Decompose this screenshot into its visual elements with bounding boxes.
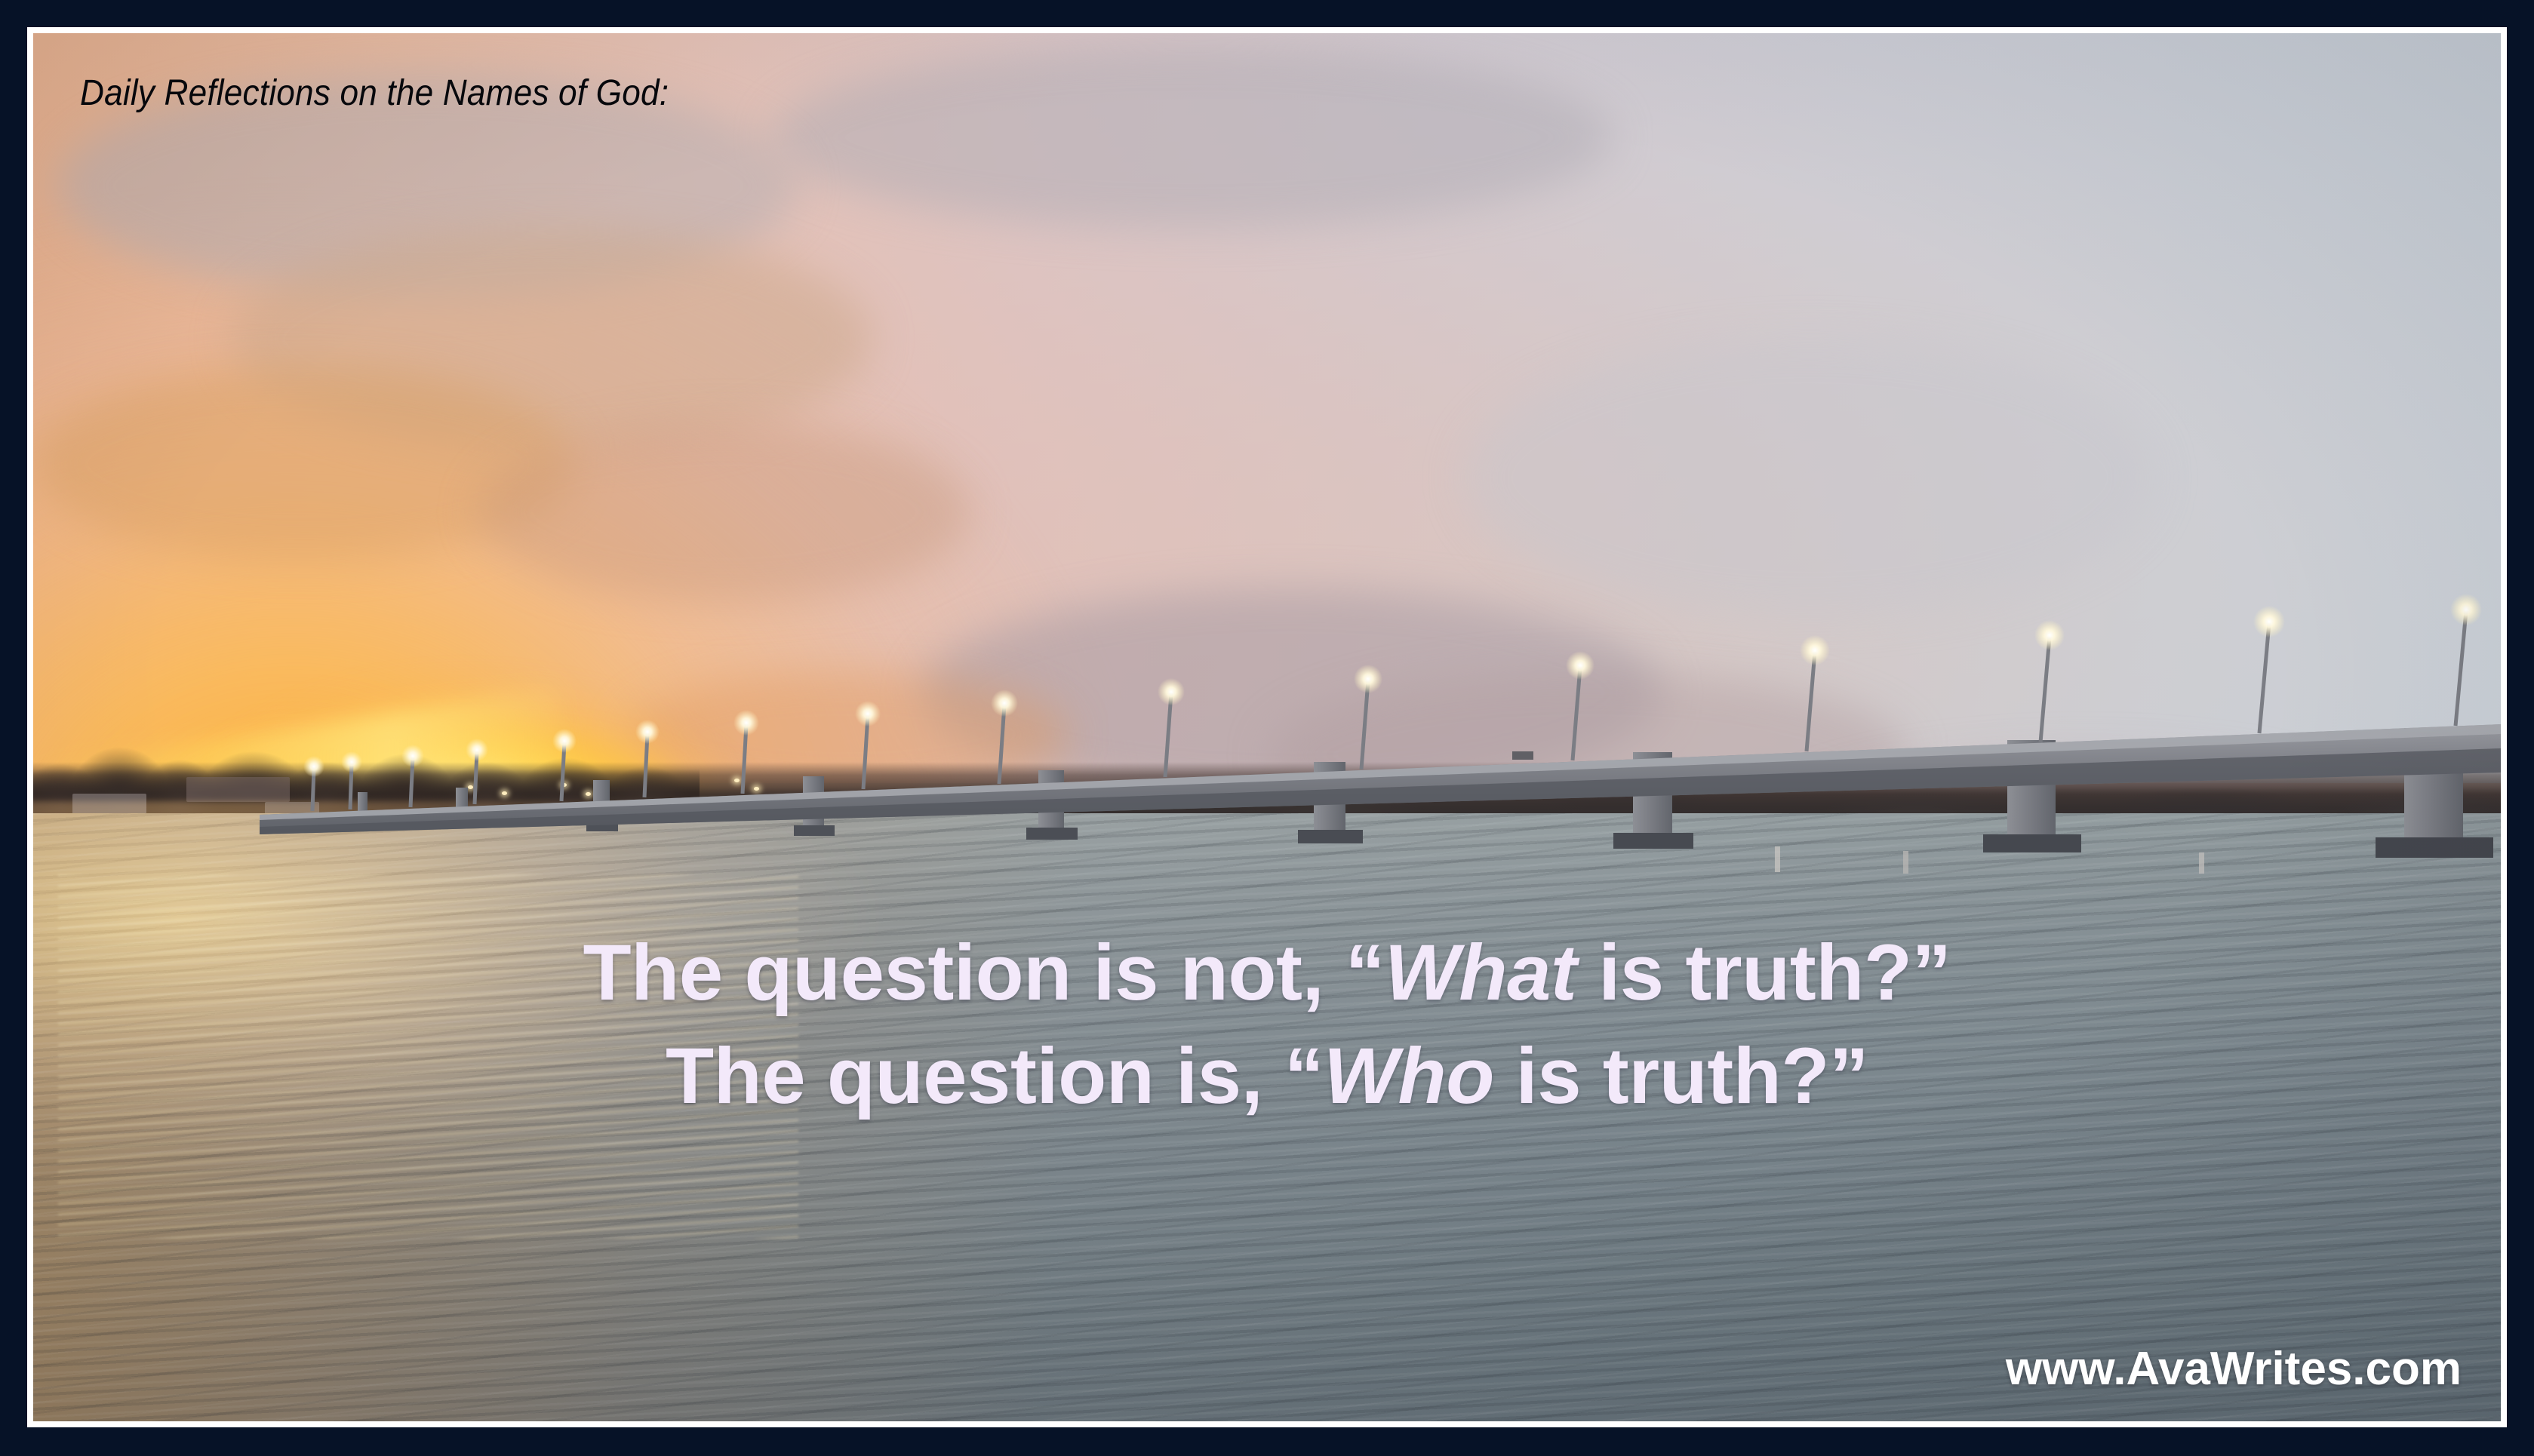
cloud: [478, 422, 971, 602]
quote-line-1: The question is not, “What is truth?”: [33, 922, 2501, 1025]
page-title: Daily Reflections on the Names of God:: [80, 72, 669, 114]
quote-line-2-prefix: The question is, “: [666, 1032, 1324, 1120]
website-url[interactable]: www.AvaWrites.com: [2006, 1342, 2462, 1396]
quote-line-1-suffix: is truth?”: [1576, 929, 1951, 1017]
quote-line-2-suffix: is truth?”: [1494, 1032, 1868, 1120]
quote-line-1-emphasis: What: [1385, 929, 1577, 1017]
poster-frame: Daily Reflections on the Names of God: T…: [0, 0, 2534, 1456]
shore-light: [561, 783, 567, 787]
shore-light: [754, 787, 759, 791]
quote-line-2-emphasis: Who: [1324, 1032, 1494, 1120]
shore-house: [186, 777, 290, 802]
cloud: [1465, 339, 2156, 616]
shore-light: [502, 791, 507, 795]
cloud: [773, 47, 1613, 227]
sunset-bridge-photograph: Daily Reflections on the Names of God: T…: [33, 33, 2501, 1421]
quote-line-1-prefix: The question is not, “: [583, 929, 1384, 1017]
shore-light: [468, 785, 473, 789]
quote-line-2: The question is, “Who is truth?”: [33, 1025, 2501, 1129]
quote-block: The question is not, “What is truth?” Th…: [33, 922, 2501, 1128]
shore-light: [734, 779, 740, 782]
